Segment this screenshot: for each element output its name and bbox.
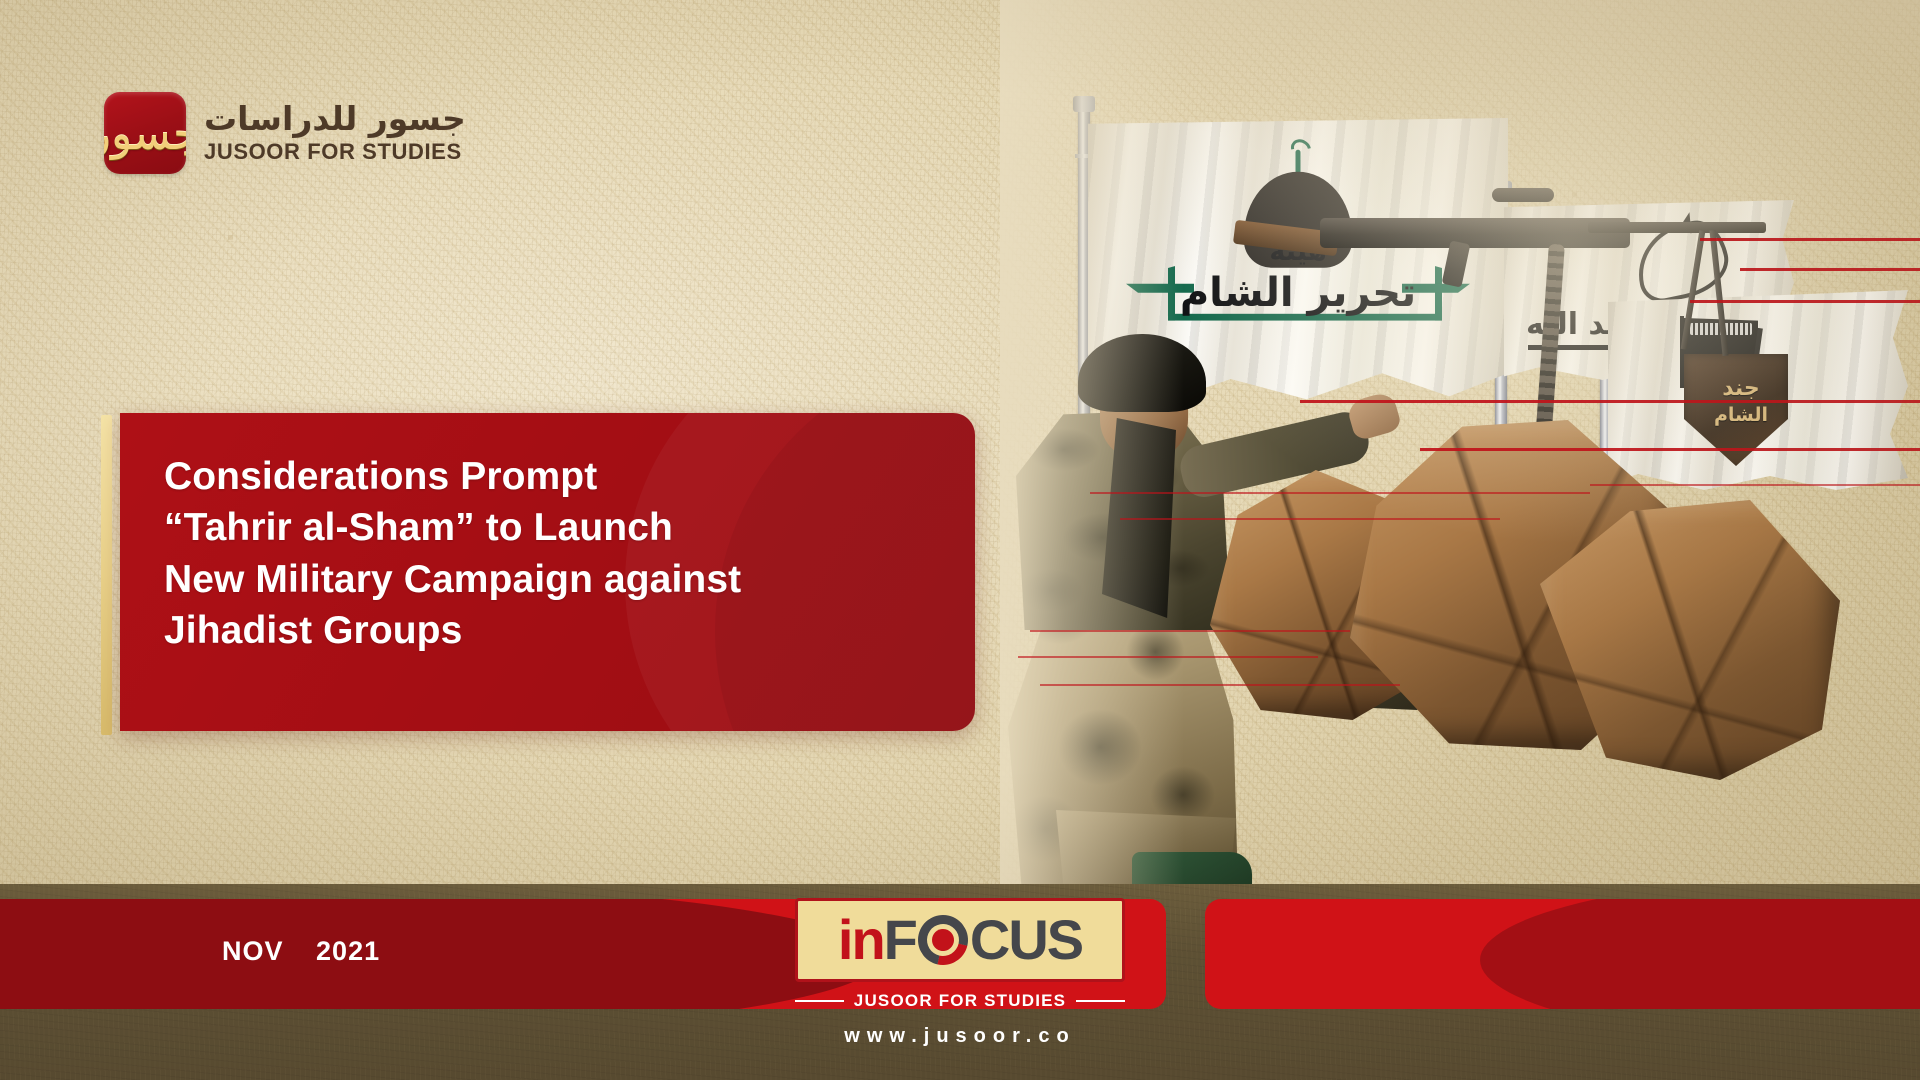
infocus-logo-plate: in F CUS [795,898,1125,982]
infocus-subtitle-row: JUSOOR FOR STUDIES [795,991,1125,1011]
title-line-1: Considerations Prompt [164,451,941,502]
decor-rule [1420,448,1920,451]
brand-name-arabic: جسور للدراسات [204,100,466,138]
title-line-3: New Military Campaign against [164,554,941,605]
title-line-4: Jihadist Groups [164,605,941,656]
infocus-cus-text: CUS [970,912,1082,968]
machine-gun [1320,182,1740,302]
title-accent-bar [101,415,112,735]
infocus-in-text: in [838,912,884,968]
flag-jund-al-sham: جند الشام [1608,290,1908,490]
flag3-emblem-text-top: جند [1666,376,1816,401]
decor-rule [1030,630,1350,632]
flag3-emblem-text-bottom: الشام [1666,404,1816,426]
decor-rule [1018,656,1318,658]
brand-logo-text: جسور للدراسات JUSOOR FOR STUDIES [204,100,466,165]
brand-logo[interactable]: جسور جسور للدراسات JUSOOR FOR STUDIES [104,92,466,174]
publication-year: 2021 [316,936,380,966]
decor-rule [1120,518,1500,520]
crescent-finial-icon [1296,150,1301,174]
fighter-headwrap [1078,334,1206,412]
decor-rule [1300,400,1920,403]
gun-body [1320,218,1630,248]
decor-rule [1740,268,1920,271]
subtitle-rule-right [1076,1000,1125,1002]
footer-bar-right-shadow [1480,899,1920,1009]
infocus-brand[interactable]: in F CUS JUSOOR FOR STUDIES www.jusoor.c… [795,898,1125,1048]
subtitle-rule-left [795,1000,844,1002]
decor-rule [1090,492,1590,494]
infocus-subtitle: JUSOOR FOR STUDIES [854,991,1066,1011]
website-url[interactable]: www.jusoor.co [795,1025,1125,1048]
jusoor-badge: جسور [104,92,186,174]
focus-target-icon [908,906,977,975]
footer-bar-right [1205,899,1920,1009]
footer-bar-left-shadow [0,899,880,1009]
infocus-f-text: F [884,912,916,968]
publication-month: NOV [222,936,284,966]
title-line-2: “Tahrir al-Sham” to Launch [164,502,941,553]
gun-barrel [1588,222,1766,233]
title-card: Considerations Prompt “Tahrir al-Sham” t… [120,413,975,731]
brand-name-english: JUSOOR FOR STUDIES [204,139,466,165]
decor-rule [1690,300,1920,303]
decor-rule [1590,484,1920,486]
decor-rule [1700,238,1920,241]
page-title: Considerations Prompt “Tahrir al-Sham” t… [164,451,941,657]
poster-canvas: هيئة تحرير الشام ألوية جند الله جند [0,0,1920,1080]
jusoor-calligraphy-icon: جسور [104,94,186,174]
publication-date: NOV 2021 [222,936,380,967]
decor-rule [1040,684,1400,686]
gun-carry-handle [1492,188,1554,202]
